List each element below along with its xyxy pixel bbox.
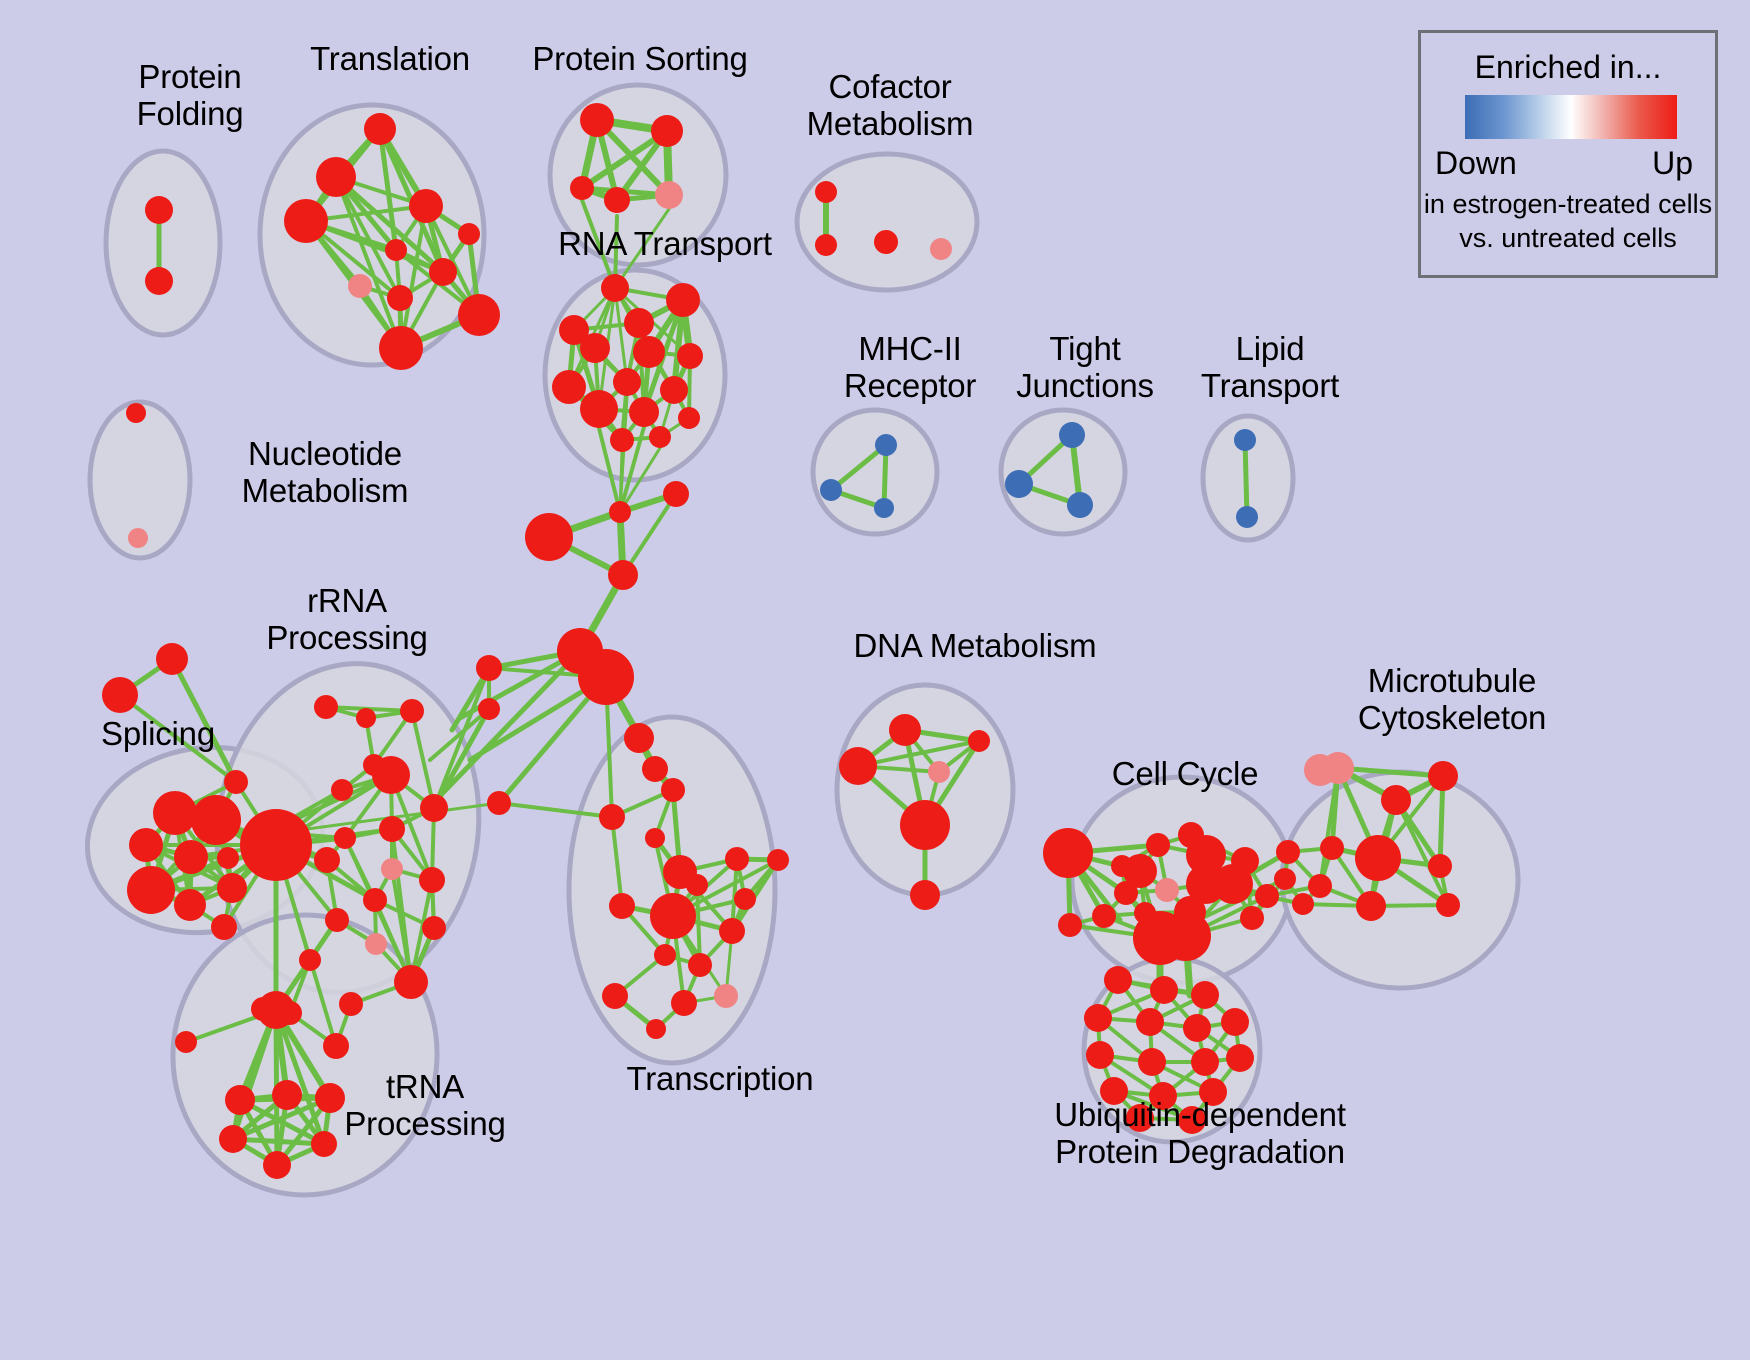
node-rrna-processing-1[interactable]: [356, 708, 376, 728]
node-cell-cycle-14[interactable]: [1058, 913, 1082, 937]
node-microtubule-cytoskeleton-6[interactable]: [1308, 874, 1332, 898]
node-transcription-18[interactable]: [599, 804, 625, 830]
node-rna-transport-3[interactable]: [624, 308, 654, 338]
cluster-label-rrna-processing: rRNA Processing: [232, 582, 462, 656]
node-splicing-4[interactable]: [191, 795, 241, 845]
node-cofactor-metabolism-1[interactable]: [815, 234, 837, 256]
cluster-label-trna-processing: tRNA Processing: [310, 1068, 540, 1142]
node-translation-4[interactable]: [458, 223, 480, 245]
node-rrna-processing-14[interactable]: [422, 916, 446, 940]
node-protein-folding-1[interactable]: [145, 267, 173, 295]
node-rna-transport-6[interactable]: [677, 343, 703, 369]
cluster-label-ubiquitin-protein-degradation: Ubiquitin-dependent Protein Degradation: [1000, 1096, 1400, 1170]
node-transcription-14[interactable]: [602, 983, 628, 1009]
cluster-label-microtubule-cytoskeleton: Microtubule Cytoskeleton: [1312, 662, 1592, 736]
node-mhc-ii-receptor-0[interactable]: [875, 434, 897, 456]
node-lipid-transport-0[interactable]: [1234, 429, 1256, 451]
node-translation-5[interactable]: [385, 239, 407, 261]
node-rrna-processing-15[interactable]: [325, 908, 349, 932]
node-translation-9[interactable]: [458, 294, 500, 336]
node-rrna-processing-23[interactable]: [339, 992, 363, 1016]
node-cofactor-metabolism-3[interactable]: [930, 238, 952, 260]
node-tight-junctions-2[interactable]: [1067, 492, 1093, 518]
node-cell-cycle-11[interactable]: [1092, 904, 1116, 928]
node-transcription-10[interactable]: [650, 893, 696, 939]
node-trna-processing-5[interactable]: [219, 1125, 247, 1153]
node-cofactor-metabolism-2[interactable]: [874, 230, 898, 254]
node-rrna-processing-21[interactable]: [323, 1033, 349, 1059]
node-ubiquitin-protein-degradation-7[interactable]: [1086, 1041, 1114, 1069]
node-splicing-1[interactable]: [102, 677, 138, 713]
cluster-hull-protein-folding: [106, 151, 220, 335]
node-rna-transport-7[interactable]: [552, 370, 586, 404]
node-dna-metabolism-0[interactable]: [889, 714, 921, 746]
node-microtubule-cytoskeleton-9[interactable]: [1436, 893, 1460, 917]
node-rna-transport-8[interactable]: [613, 368, 641, 396]
node-rna-transport-1[interactable]: [666, 283, 700, 317]
node-ubiquitin-protein-degradation-0[interactable]: [1104, 966, 1132, 994]
node-splicing-9[interactable]: [127, 866, 175, 914]
node-rrna-processing-7[interactable]: [372, 756, 410, 794]
node-transcription-9[interactable]: [734, 888, 756, 910]
legend-high-label: Up: [1652, 145, 1693, 182]
node-dna-metabolism-2[interactable]: [839, 747, 877, 785]
node-rrna-processing-2[interactable]: [400, 699, 424, 723]
node-translation-2[interactable]: [409, 189, 443, 223]
node-rna-transport-12[interactable]: [678, 407, 700, 429]
node-splicing-11[interactable]: [217, 873, 247, 903]
node-splicing-2[interactable]: [224, 770, 248, 794]
node-dna-metabolism-3[interactable]: [928, 761, 950, 783]
cluster-label-nucleotide-metabolism: Nucleotide Metabolism: [200, 435, 450, 509]
node-rrna-processing-4[interactable]: [331, 779, 353, 801]
node-microtubule-cytoskeleton-10[interactable]: [1274, 868, 1296, 890]
node-translation-10[interactable]: [379, 326, 423, 370]
node-rrna-processing-10[interactable]: [381, 858, 403, 880]
node-rna-transport-0[interactable]: [601, 274, 629, 302]
node-splicing-10[interactable]: [174, 889, 206, 921]
node-ubiquitin-protein-degradation-1[interactable]: [1150, 976, 1178, 1004]
node-bridge-hub-upper-5[interactable]: [578, 649, 634, 705]
legend-colorbar: [1465, 95, 1677, 139]
node-trna-processing-0[interactable]: [175, 1031, 197, 1053]
node-translation-7[interactable]: [348, 274, 372, 298]
node-ubiquitin-protein-degradation-5[interactable]: [1183, 1014, 1211, 1042]
node-rrna-processing-5[interactable]: [420, 794, 448, 822]
cluster-label-cofactor-metabolism: Cofactor Metabolism: [775, 68, 1005, 142]
edge-lipid-transport: [1245, 440, 1247, 517]
node-ubiquitin-protein-degradation-9[interactable]: [1191, 1048, 1219, 1076]
node-ubiquitin-protein-degradation-10[interactable]: [1226, 1044, 1254, 1072]
node-microtubule-cytoskeleton-7[interactable]: [1356, 891, 1386, 921]
node-transcription-5[interactable]: [725, 847, 749, 871]
node-splicing-0[interactable]: [156, 643, 188, 675]
cluster-label-protein-sorting: Protein Sorting: [475, 40, 805, 77]
node-bridge-hub-upper-2[interactable]: [663, 481, 689, 507]
node-ubiquitin-protein-degradation-3[interactable]: [1084, 1004, 1112, 1032]
node-rna-transport-9[interactable]: [660, 376, 688, 404]
node-microtubule-cytoskeleton-4[interactable]: [1355, 835, 1401, 881]
node-microtubule-cytoskeleton-8[interactable]: [1428, 854, 1452, 878]
node-cell-cycle-18[interactable]: [1111, 855, 1133, 877]
node-trna-processing-2[interactable]: [225, 1085, 255, 1115]
node-mhc-ii-receptor-1[interactable]: [820, 479, 842, 501]
node-translation-0[interactable]: [364, 113, 396, 145]
node-microtubule-cytoskeleton-2[interactable]: [1428, 761, 1458, 791]
legend-title: Enriched in...: [1421, 49, 1715, 86]
cluster-label-lipid-transport: Lipid Transport: [1170, 330, 1370, 404]
node-rna-transport-14[interactable]: [649, 426, 671, 448]
node-trna-processing-3[interactable]: [272, 1080, 302, 1110]
node-microtubule-cytoskeleton-11[interactable]: [1292, 893, 1314, 915]
node-lipid-transport-1[interactable]: [1236, 506, 1258, 528]
cluster-label-splicing: Splicing: [58, 715, 258, 752]
node-bridge-hub-upper-0[interactable]: [525, 513, 573, 561]
node-protein-sorting-2[interactable]: [570, 176, 594, 200]
node-dna-metabolism-1[interactable]: [968, 730, 990, 752]
node-rrna-processing-12[interactable]: [363, 888, 387, 912]
node-cell-cycle-7[interactable]: [1155, 878, 1179, 902]
node-rrna-processing-16[interactable]: [365, 933, 387, 955]
node-translation-6[interactable]: [429, 258, 457, 286]
node-transcription-6[interactable]: [767, 849, 789, 871]
legend-low-label: Down: [1435, 145, 1517, 182]
node-rrna-processing-0[interactable]: [314, 695, 338, 719]
node-transcription-8[interactable]: [686, 874, 708, 896]
node-rna-transport-5[interactable]: [633, 336, 665, 368]
node-ubiquitin-protein-degradation-4[interactable]: [1136, 1008, 1164, 1036]
node-transcription-3[interactable]: [645, 828, 665, 848]
legend-caption-line1: in estrogen-treated cells: [1421, 189, 1715, 220]
cluster-label-dna-metabolism: DNA Metabolism: [805, 627, 1145, 664]
node-transcription-17[interactable]: [646, 1019, 666, 1039]
node-cell-cycle-0[interactable]: [1043, 828, 1093, 878]
node-cofactor-metabolism-0[interactable]: [815, 181, 837, 203]
node-transcription-13[interactable]: [688, 953, 712, 977]
node-translation-8[interactable]: [387, 285, 413, 311]
node-transcription-2[interactable]: [661, 778, 685, 802]
node-rrna-processing-17[interactable]: [394, 965, 428, 999]
node-cell-cycle-9[interactable]: [1213, 864, 1253, 904]
node-transcription-7[interactable]: [609, 893, 635, 919]
node-protein-sorting-1[interactable]: [651, 115, 683, 147]
node-protein-folding-0[interactable]: [145, 196, 173, 224]
node-rna-transport-13[interactable]: [610, 428, 634, 452]
node-rna-transport-4[interactable]: [580, 333, 610, 363]
node-ubiquitin-protein-degradation-8[interactable]: [1138, 1048, 1166, 1076]
cluster-label-cell-cycle: Cell Cycle: [1065, 755, 1305, 792]
node-nucleotide-metabolism-0[interactable]: [126, 403, 146, 423]
node-splicing-12[interactable]: [211, 914, 237, 940]
cluster-label-rna-transport: RNA Transport: [515, 225, 815, 262]
node-rna-transport-10[interactable]: [580, 390, 618, 428]
node-transcription-11[interactable]: [719, 918, 745, 944]
node-tight-junctions-1[interactable]: [1005, 470, 1033, 498]
node-rrna-processing-19[interactable]: [240, 809, 312, 881]
node-cell-cycle-16[interactable]: [1161, 911, 1211, 961]
node-splicing-3[interactable]: [153, 791, 197, 835]
node-cell-cycle-17[interactable]: [1240, 906, 1264, 930]
node-microtubule-cytoskeleton-1[interactable]: [1381, 785, 1411, 815]
node-transcription-12[interactable]: [654, 944, 676, 966]
node-protein-sorting-3[interactable]: [604, 187, 630, 213]
node-bridge-hub-upper-6[interactable]: [476, 655, 502, 681]
node-rrna-processing-18[interactable]: [299, 949, 321, 971]
node-nucleotide-metabolism-1[interactable]: [128, 528, 148, 548]
node-protein-sorting-0[interactable]: [580, 103, 614, 137]
cluster-label-transcription: Transcription: [575, 1060, 865, 1097]
node-splicing-7[interactable]: [217, 847, 239, 869]
node-rrna-processing-8[interactable]: [379, 816, 405, 842]
node-dna-metabolism-4[interactable]: [900, 800, 950, 850]
node-microtubule-cytoskeleton-5[interactable]: [1276, 840, 1300, 864]
node-splicing-6[interactable]: [174, 840, 208, 874]
node-bridge-hub-upper-9[interactable]: [1304, 754, 1336, 786]
node-transcription-16[interactable]: [714, 984, 738, 1008]
node-translation-3[interactable]: [284, 199, 328, 243]
node-transcription-0[interactable]: [624, 723, 654, 753]
node-transcription-1[interactable]: [642, 756, 668, 782]
node-translation-1[interactable]: [316, 157, 356, 197]
node-trna-processing-7[interactable]: [263, 1151, 291, 1179]
node-bridge-hub-upper-1[interactable]: [609, 501, 631, 523]
node-bridge-hub-upper-3[interactable]: [608, 560, 638, 590]
node-cell-cycle-6[interactable]: [1114, 881, 1138, 905]
node-protein-sorting-4[interactable]: [655, 181, 683, 209]
node-tight-junctions-0[interactable]: [1059, 422, 1085, 448]
node-rrna-processing-9[interactable]: [334, 827, 356, 849]
node-cell-cycle-1[interactable]: [1146, 833, 1170, 857]
cluster-hull-mhc-ii-receptor: [813, 410, 937, 534]
node-transcription-15[interactable]: [671, 990, 697, 1016]
node-trna-processing-1[interactable]: [257, 991, 295, 1029]
node-ubiquitin-protein-degradation-6[interactable]: [1221, 1008, 1249, 1036]
network-figure: Protein FoldingTranslationProtein Sortin…: [0, 0, 1750, 1360]
node-splicing-5[interactable]: [129, 828, 163, 862]
node-rna-transport-11[interactable]: [629, 397, 659, 427]
node-microtubule-cytoskeleton-3[interactable]: [1320, 836, 1344, 860]
node-dna-metabolism-5[interactable]: [910, 880, 940, 910]
node-rrna-processing-11[interactable]: [314, 847, 340, 873]
cluster-label-tight-junctions: Tight Junctions: [985, 330, 1185, 404]
node-bridge-hub-upper-8[interactable]: [487, 791, 511, 815]
legend-panel: Enriched in... Down Up in estrogen-treat…: [1418, 30, 1718, 278]
node-rrna-processing-13[interactable]: [419, 867, 445, 893]
legend-caption-line2: vs. untreated cells: [1421, 223, 1715, 254]
node-cell-cycle-10[interactable]: [1255, 884, 1279, 908]
node-bridge-hub-upper-7[interactable]: [478, 698, 500, 720]
node-mhc-ii-receptor-2[interactable]: [874, 498, 894, 518]
node-ubiquitin-protein-degradation-2[interactable]: [1191, 981, 1219, 1009]
